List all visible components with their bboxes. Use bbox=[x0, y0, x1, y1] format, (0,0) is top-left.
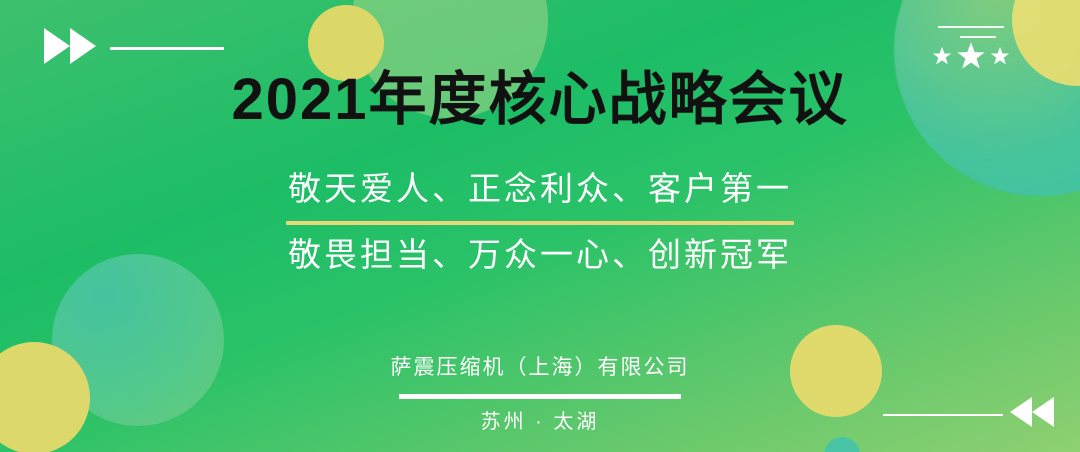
slogan-line-2: 敬畏担当、万众一心、创新冠军 bbox=[0, 235, 1080, 275]
decorative-circle-teal-bottom-right bbox=[824, 437, 860, 452]
conference-banner: 2021年度核心战略会议 敬天爱人、正念利众、客户第一 敬畏担当、万众一心、创新… bbox=[0, 0, 1080, 452]
location-label: 苏州 · 太湖 bbox=[0, 410, 1080, 434]
company-name: 萨震压缩机（上海）有限公司 bbox=[0, 355, 1080, 380]
slogan-line-1: 敬天爱人、正念利众、客户第一 bbox=[0, 133, 1080, 209]
banner-footer: 萨震压缩机（上海）有限公司 苏州 · 太湖 bbox=[0, 355, 1080, 434]
banner-content: 2021年度核心战略会议 敬天爱人、正念利众、客户第一 敬畏担当、万众一心、创新… bbox=[0, 0, 1080, 275]
page-title: 2021年度核心战略会议 bbox=[0, 0, 1080, 133]
footer-divider bbox=[399, 394, 681, 399]
slogan-divider bbox=[286, 221, 794, 225]
